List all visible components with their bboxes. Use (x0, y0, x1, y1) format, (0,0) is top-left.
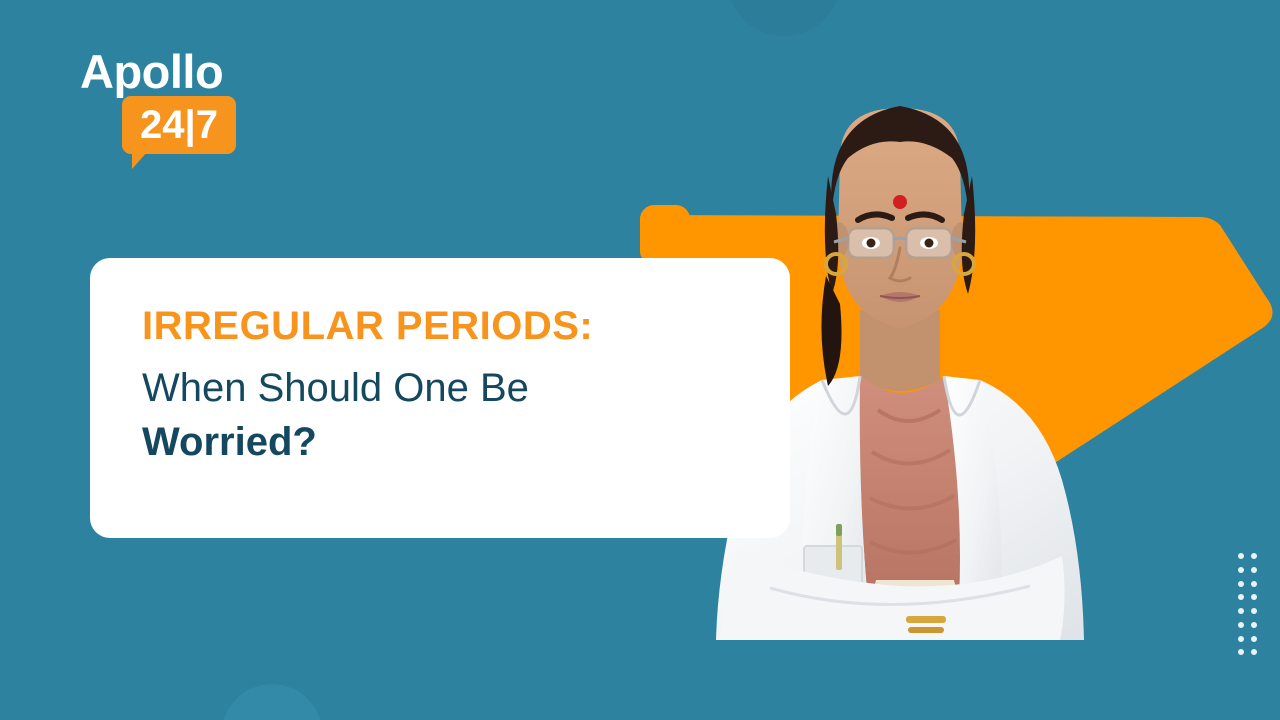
dot (1238, 622, 1244, 628)
video-thumbnail-canvas: IRREGULAR PERIODS: When Should One Be Wo… (0, 0, 1280, 720)
dot (1251, 622, 1257, 628)
logo-badge-text: 24|7 (122, 96, 236, 154)
dot (1251, 636, 1257, 642)
headline-line-three: Worried? (142, 415, 790, 469)
dot (1238, 581, 1244, 587)
logo-speech-bubble-icon: 24|7 (122, 96, 236, 154)
logo-brand-word: Apollo (80, 48, 280, 95)
dot (1251, 553, 1257, 559)
dot (1251, 594, 1257, 600)
dot (1238, 567, 1244, 573)
dot (1251, 581, 1257, 587)
headline-kicker: IRREGULAR PERIODS: (142, 306, 790, 347)
dot (1251, 608, 1257, 614)
dot (1251, 649, 1257, 655)
dot (1238, 636, 1244, 642)
dot (1251, 567, 1257, 573)
headline-line-two: When Should One Be (142, 361, 790, 415)
dot (1238, 594, 1244, 600)
top-circle-decoration-icon (727, 0, 841, 36)
dot (1238, 608, 1244, 614)
dot-grid-decoration-icon (1238, 553, 1264, 663)
title-card: IRREGULAR PERIODS: When Should One Be Wo… (90, 258, 790, 538)
apollo-247-logo[interactable]: Apollo 24|7 (80, 48, 280, 173)
dot (1238, 649, 1244, 655)
dot (1238, 553, 1244, 559)
bottom-circle-decoration-icon (222, 684, 322, 720)
